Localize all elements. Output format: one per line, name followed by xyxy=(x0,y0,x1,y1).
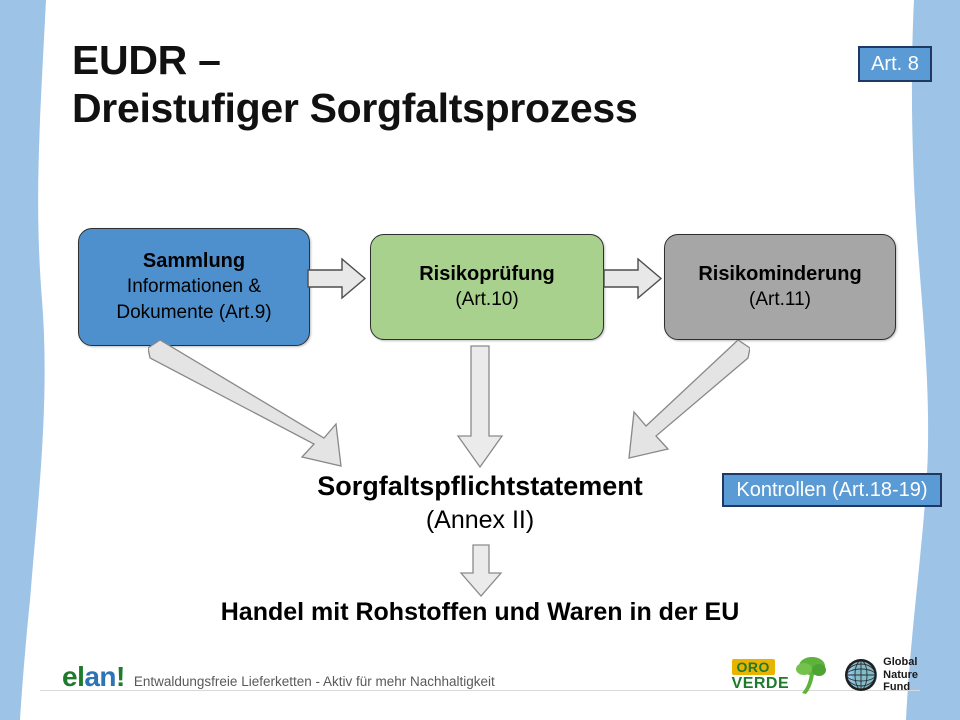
arrow-right-icon-risk-to-mitigation xyxy=(602,255,664,303)
slide-canvas: EUDR – Dreistufiger Sorgfaltsprozess Art… xyxy=(0,0,960,720)
elan-logo: elan! xyxy=(62,663,125,691)
title-line-2: Dreistufiger Sorgfaltsprozess xyxy=(72,84,832,132)
gnf-line-1: Global xyxy=(883,656,918,669)
box-risk-subline-1: (Art.10) xyxy=(455,287,518,313)
title-line-1: EUDR – xyxy=(72,36,832,84)
global-nature-fund-logo: Global Nature Fund xyxy=(843,656,918,694)
left-edge-decoration xyxy=(0,0,70,720)
arrow-down-icon-risk-to-statement xyxy=(455,344,505,470)
box-collection-subline-1: Informationen & xyxy=(127,274,261,300)
arrow-down-icon-statement-to-trade xyxy=(458,543,504,599)
oroverde-line-2: VERDE xyxy=(732,676,790,692)
statement-annex-text: (Annex II) xyxy=(180,504,780,537)
oroverde-wordmark: ORO VERDE xyxy=(732,659,790,692)
process-box-risk-assessment: Risikoprüfung (Art.10) xyxy=(370,234,604,340)
process-box-collection: Sammlung Informationen & Dokumente (Art.… xyxy=(78,228,310,346)
arrow-diagonal-icon-collection-to-statement xyxy=(148,340,348,470)
footer-right-group: ORO VERDE xyxy=(732,655,918,695)
box-risk-heading: Risikoprüfung xyxy=(419,261,555,287)
oroverde-logo: ORO VERDE xyxy=(732,655,828,695)
gnf-line-3: Fund xyxy=(883,681,918,694)
page-title: EUDR – Dreistufiger Sorgfaltsprozess xyxy=(72,36,832,133)
footer-tagline: Entwaldungsfreie Lieferketten - Aktiv fü… xyxy=(134,675,495,689)
footer-left-group: elan! Entwaldungsfreie Lieferketten - Ak… xyxy=(62,663,495,691)
gnf-wordmark: Global Nature Fund xyxy=(883,656,918,694)
badge-art8: Art. 8 xyxy=(858,46,932,82)
elan-logo-part-1: el xyxy=(62,661,84,692)
trade-text: Handel mit Rohstoffen und Waren in der E… xyxy=(100,598,860,627)
statement-main-text: Sorgfaltspflichtstatement xyxy=(180,470,780,504)
globe-icon xyxy=(843,657,879,693)
statement-text-block: Sorgfaltspflichtstatement (Annex II) xyxy=(180,470,780,536)
arrow-diagonal-icon-mitigation-to-statement xyxy=(618,340,750,470)
box-collection-heading: Sammlung xyxy=(143,248,245,274)
elan-logo-part-3: ! xyxy=(116,661,125,692)
tree-icon xyxy=(793,655,827,695)
box-mitigation-subline-1: (Art.11) xyxy=(749,287,811,313)
box-collection-subline-2: Dokumente (Art.9) xyxy=(116,300,271,326)
elan-logo-part-2: an xyxy=(84,661,116,692)
box-mitigation-heading: Risikominderung xyxy=(698,261,861,287)
arrow-right-icon-collection-to-risk xyxy=(306,255,368,303)
oroverde-line-1: ORO xyxy=(732,659,775,675)
gnf-line-2: Nature xyxy=(883,669,918,682)
process-box-risk-mitigation: Risikominderung (Art.11) xyxy=(664,234,896,340)
right-edge-decoration xyxy=(880,0,960,720)
badge-kontrollen: Kontrollen (Art.18-19) xyxy=(722,473,942,507)
